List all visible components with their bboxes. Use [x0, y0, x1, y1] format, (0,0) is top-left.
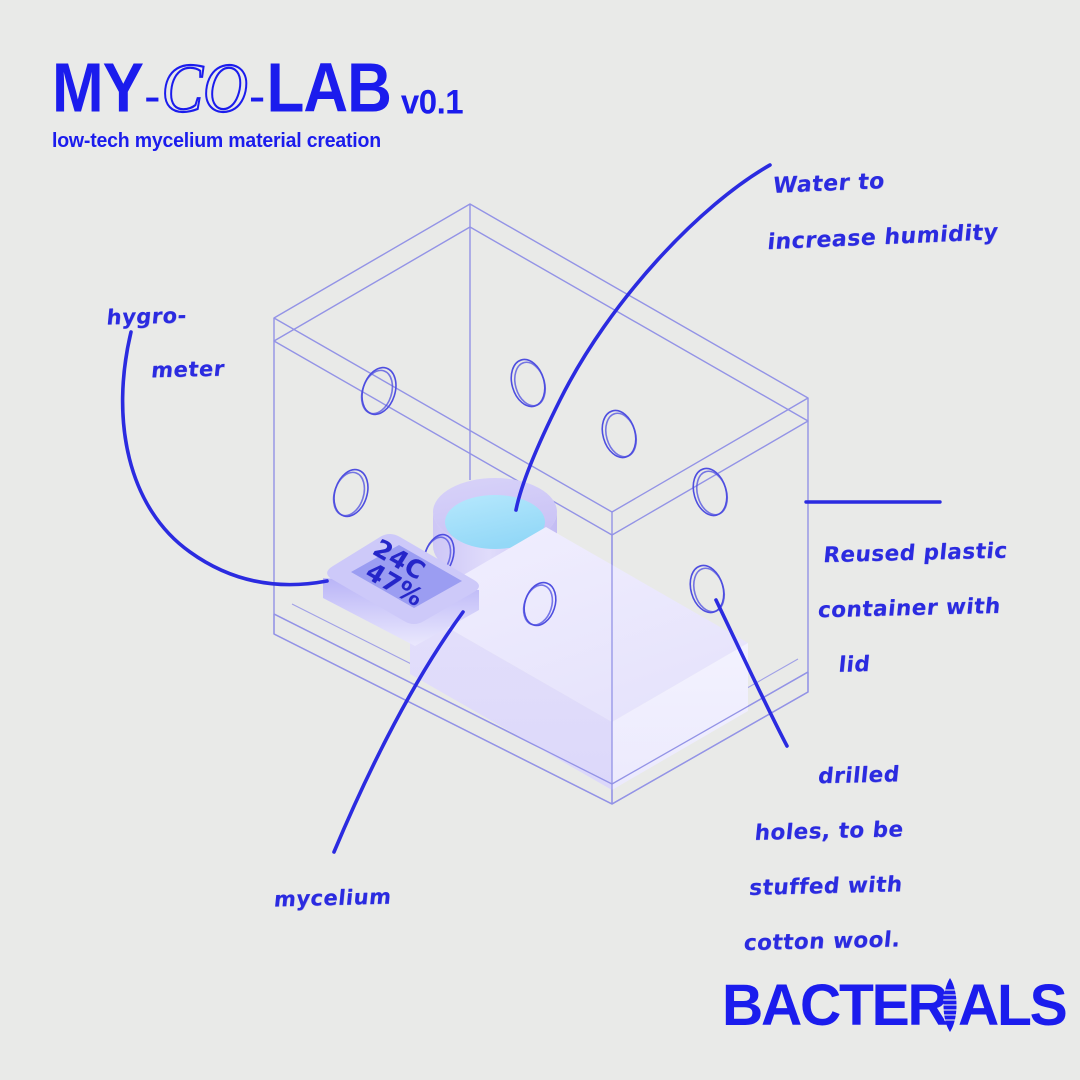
wordmark-subtitle: low-tech mycelium material creation	[52, 131, 463, 151]
brand-logo-suffix: ALS	[958, 971, 1066, 1039]
drilled-callout-line-1: drilled	[759, 760, 918, 791]
drilled-hole	[506, 356, 550, 411]
wordmark-version: v0.1	[401, 84, 463, 119]
drilled-hole-group-back-left	[328, 363, 401, 521]
drilled-holes-callout-label: drilled holes, to be stuffed with cotton…	[740, 733, 921, 985]
brand-logo: BACTER ALS	[722, 972, 1064, 1037]
container-lid	[274, 204, 808, 535]
container-callout-label: Reused plastic container with lid	[809, 509, 1012, 707]
wordmark-co: CO	[162, 55, 248, 124]
drilled-callout-line-2: holes, to be	[753, 816, 912, 847]
water-callout-line-2: increase humidity	[766, 220, 999, 258]
mycelium-callout-line-1: mycelium	[273, 883, 393, 913]
water-callout-line-1: Water to	[771, 163, 1004, 201]
wordmark-dash-1: -	[143, 71, 162, 121]
wordmark-row: MY - CO - LAB v0.1	[52, 62, 463, 124]
water-callout-label: Water to increase humidity	[763, 135, 1007, 287]
drilled-hole	[597, 407, 641, 462]
container-callout-line-1: Reused plastic	[822, 537, 1009, 569]
page-title: MY - CO - LAB v0.1 low-tech mycelium mat…	[52, 62, 463, 151]
drilled-hole	[328, 465, 373, 521]
wordmark-my: MY	[52, 55, 143, 124]
drilled-hole	[688, 465, 732, 520]
hygrometer-callout-label: hygro- meter	[97, 274, 233, 412]
container-callout-line-2: container with	[817, 592, 1004, 624]
hygro-callout-line-2: meter	[100, 355, 226, 385]
wordmark-lab: LAB	[266, 55, 390, 124]
drilled-hole	[685, 562, 729, 617]
leader-line-water	[516, 165, 770, 510]
wordmark-dash-2: -	[248, 71, 267, 121]
drilled-callout-line-4: cotton wool.	[743, 926, 902, 957]
drilled-callout-line-3: stuffed with	[748, 871, 907, 902]
spore-icon	[941, 977, 959, 1033]
container-callout-line-3: lid	[811, 647, 998, 679]
diagram-canvas: MY - CO - LAB v0.1 low-tech mycelium mat…	[0, 0, 1080, 1080]
mycelium-callout-label: mycelium	[270, 856, 395, 940]
hygro-callout-line-1: hygro-	[105, 301, 231, 331]
brand-logo-prefix: BACTER	[722, 971, 947, 1039]
